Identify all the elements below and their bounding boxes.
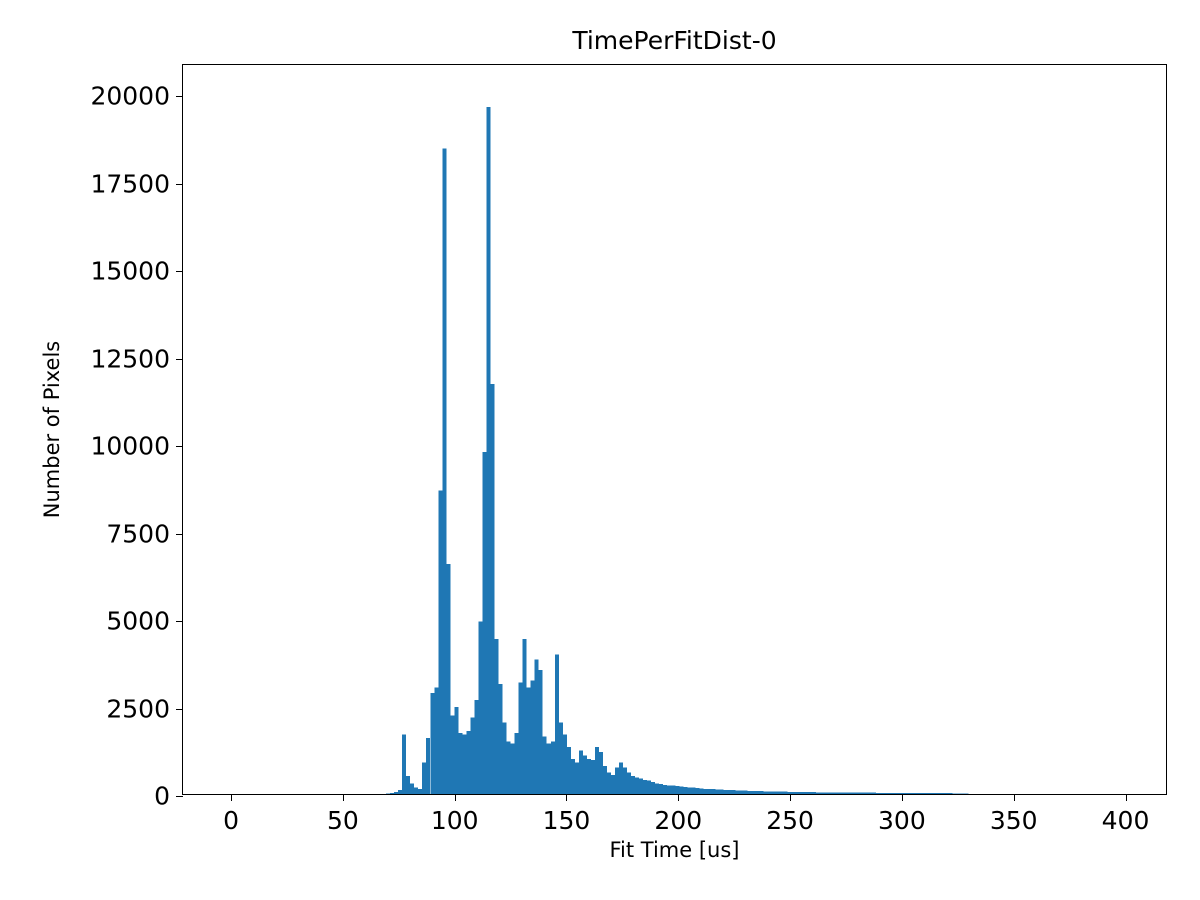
x-tick-label: 400 (1102, 808, 1150, 833)
x-axis-label: Fit Time [us] (182, 840, 1167, 861)
x-tick-mark (902, 794, 903, 801)
y-tick-label: 10000 (90, 434, 170, 459)
y-axis-label: Number of Pixels (42, 64, 70, 795)
histogram-bar-series (386, 107, 968, 794)
y-tick-mark (176, 96, 183, 97)
y-tick-label: 12500 (90, 346, 170, 371)
figure-canvas: TimePerFitDist-0 02500500075001000012500… (0, 0, 1200, 900)
y-tick-mark (176, 621, 183, 622)
y-tick-label: 2500 (106, 696, 170, 721)
x-tick-label: 50 (327, 808, 359, 833)
plot-axes: 0250050007500100001250015000175002000005… (182, 64, 1167, 795)
x-tick-label: 300 (878, 808, 926, 833)
y-tick-mark (176, 709, 183, 710)
histogram-bars (183, 65, 1166, 794)
x-tick-label: 200 (654, 808, 702, 833)
x-tick-label: 350 (990, 808, 1038, 833)
y-tick-label: 5000 (106, 609, 170, 634)
y-tick-mark (176, 534, 183, 535)
x-tick-label: 250 (766, 808, 814, 833)
y-tick-label: 17500 (90, 171, 170, 196)
x-tick-mark (231, 794, 232, 801)
x-tick-mark (343, 794, 344, 801)
plot-area (183, 65, 1166, 794)
y-tick-label: 0 (154, 784, 170, 809)
x-tick-label: 100 (431, 808, 479, 833)
x-tick-mark (790, 794, 791, 801)
y-tick-label: 20000 (90, 84, 170, 109)
x-tick-mark (455, 794, 456, 801)
x-tick-mark (1014, 794, 1015, 801)
y-tick-mark (176, 796, 183, 797)
y-tick-mark (176, 184, 183, 185)
y-tick-label: 7500 (106, 521, 170, 546)
y-tick-mark (176, 271, 183, 272)
chart-title: TimePerFitDist-0 (182, 28, 1167, 53)
y-tick-label: 15000 (90, 259, 170, 284)
x-tick-label: 0 (223, 808, 239, 833)
x-tick-mark (678, 794, 679, 801)
y-tick-mark (176, 446, 183, 447)
x-tick-label: 150 (543, 808, 591, 833)
x-tick-mark (566, 794, 567, 801)
y-tick-mark (176, 359, 183, 360)
x-tick-mark (1126, 794, 1127, 801)
